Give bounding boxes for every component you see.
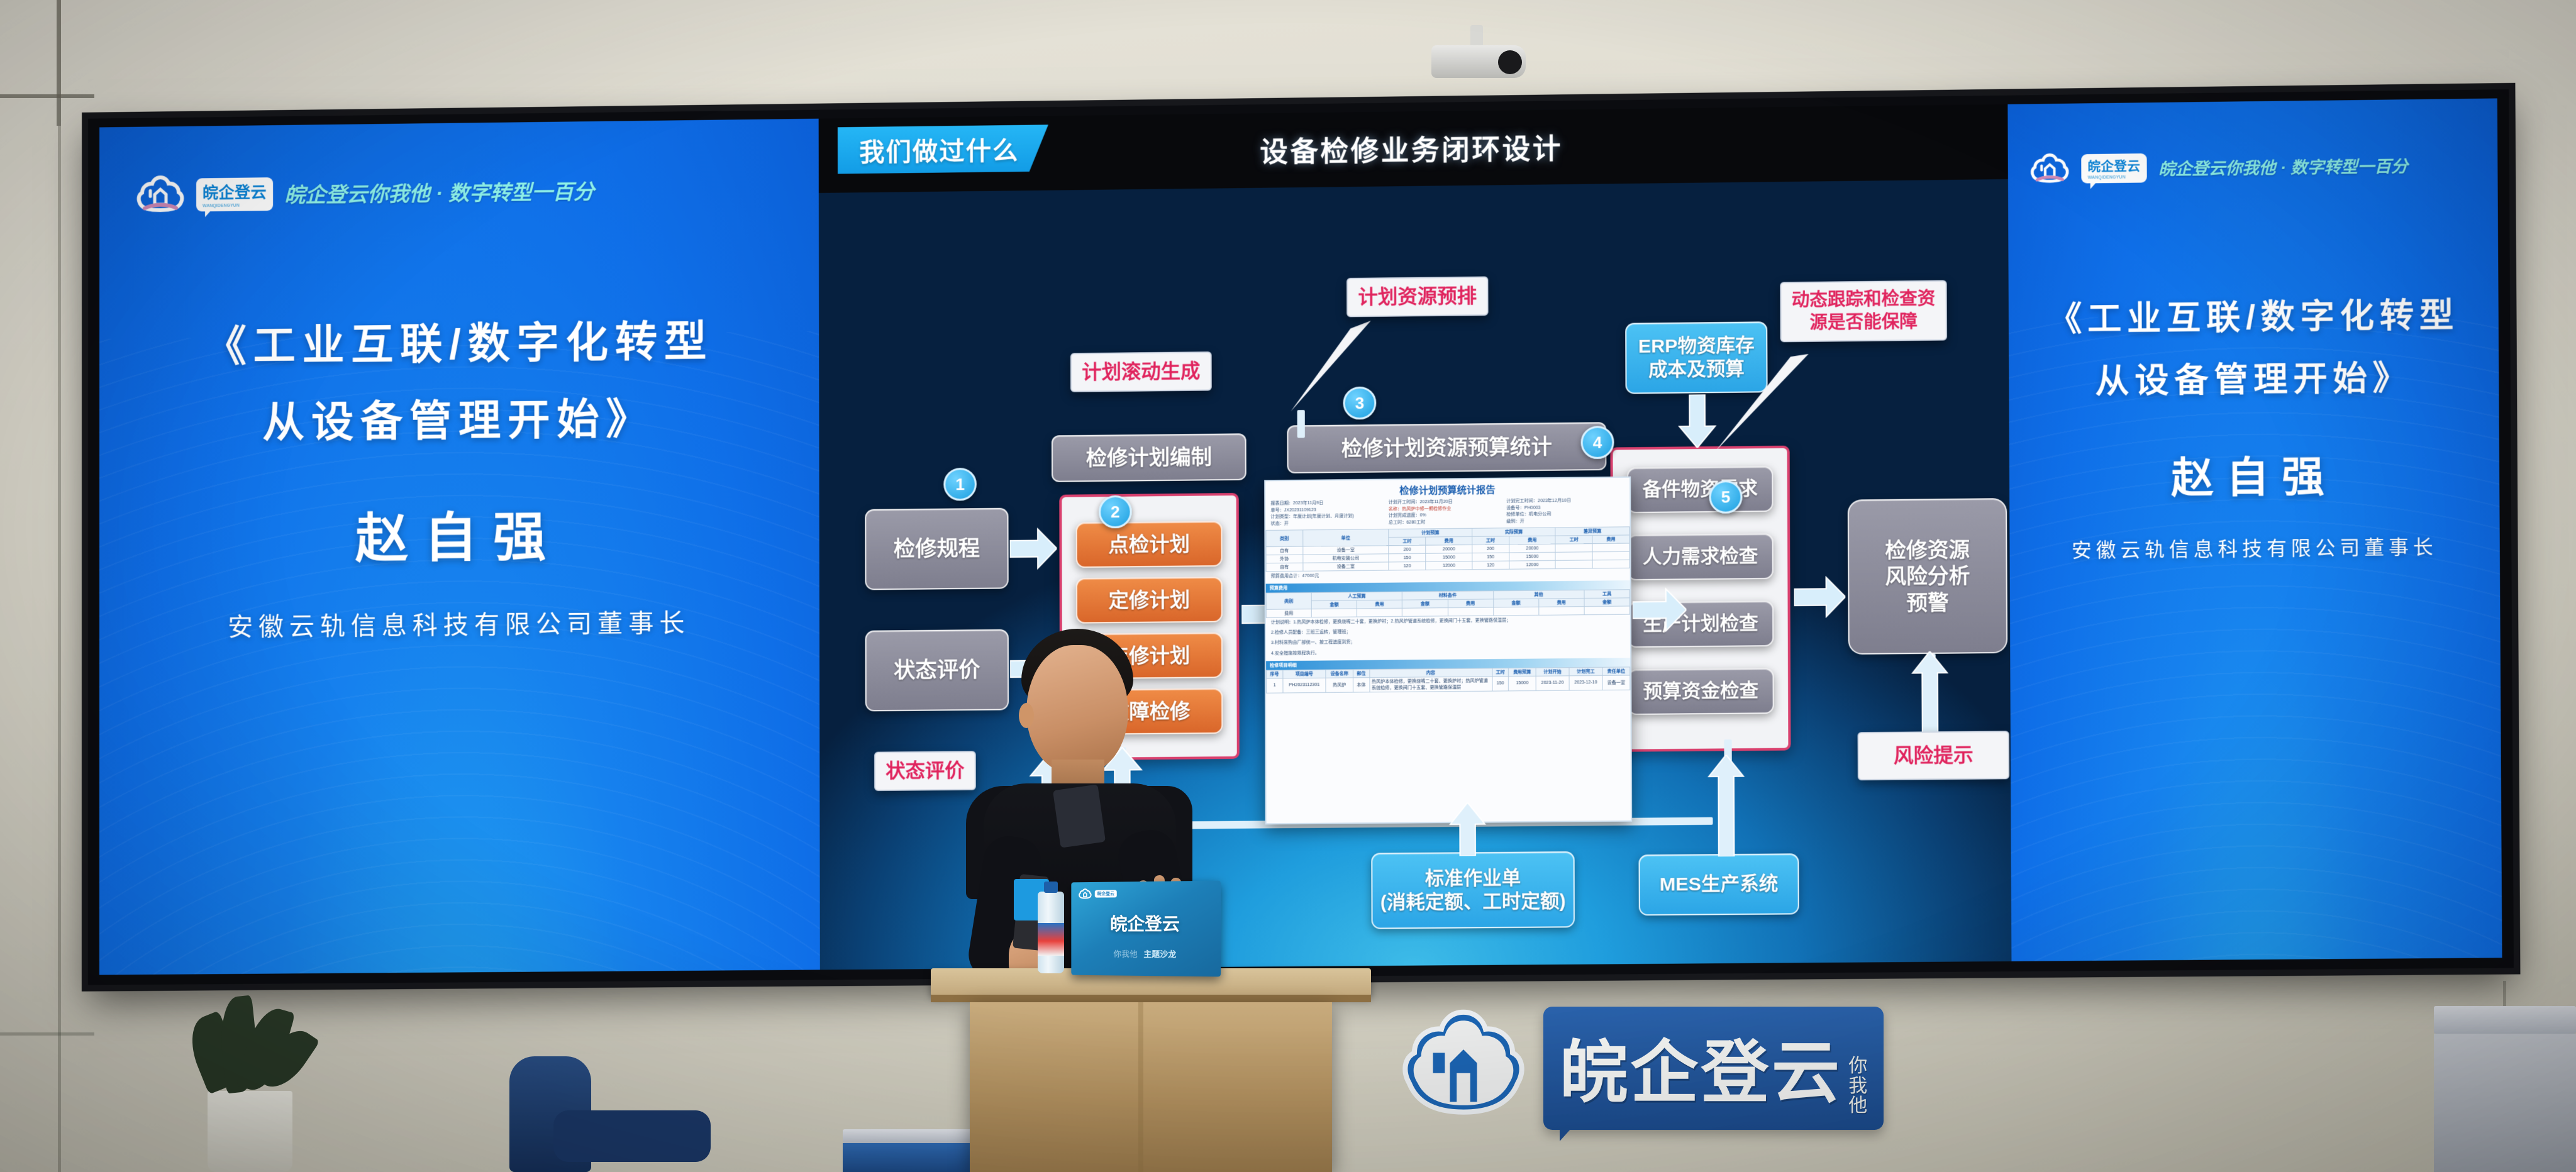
- step-badge-2: 2: [1099, 495, 1132, 529]
- report-meta-item: 总工时：6280工时: [1389, 519, 1507, 526]
- desk-front-panel: [2434, 1034, 2576, 1172]
- callout-risk-prompt: 风险提示: [1858, 731, 2010, 780]
- camera-mount: [1470, 25, 1483, 47]
- cell: 15000: [1509, 676, 1536, 691]
- wall-seam-horizontal: [0, 94, 94, 98]
- wall-sign-plate: 皖企登云 你 我 他: [1543, 1007, 1884, 1130]
- col-header-fee: 费用: [1448, 599, 1493, 608]
- node-risk-analysis-alert[interactable]: 检修资源 风险分析 预警: [1848, 498, 2007, 655]
- laptop-sub-small: 你我他: [1114, 949, 1138, 959]
- cloud-logo-icon: [2029, 153, 2070, 185]
- step-badge-1: 1: [943, 468, 977, 501]
- banner-panel-right: 皖企登云 WANQIDENGYUN 皖企登云你我他 · 数字转型一百分 《工业互…: [2007, 98, 2502, 961]
- cell: 设备一室: [1602, 675, 1630, 690]
- speaker-ear: [1019, 703, 1034, 728]
- cell: 费用: [1266, 609, 1311, 618]
- cell: 机电安装公司: [1303, 554, 1389, 563]
- cell: 1: [1267, 678, 1283, 693]
- wall-sign-side-char: 你: [1848, 1056, 1867, 1076]
- cloud-logo-icon: [1079, 888, 1092, 900]
- col-header-fee: 费用: [1357, 600, 1402, 609]
- col-header-unit: 单位: [1302, 529, 1389, 547]
- camera-lens-icon: [1498, 50, 1522, 74]
- col-header-cost: 费用: [1426, 536, 1472, 545]
- podium: [931, 943, 1384, 1172]
- speaker-role-right: 安徽云轨信息科技有限公司董事长: [2009, 531, 2499, 564]
- water-bottle: [1038, 892, 1064, 973]
- cloud-logo-icon: [136, 175, 185, 215]
- node-plan-compilation[interactable]: 检修计划编制: [1052, 433, 1246, 482]
- cell: [1584, 606, 1629, 615]
- chair-armrest: [553, 1110, 711, 1162]
- col-group-materials: 材料备件: [1402, 591, 1494, 600]
- report-meta-item: 级别：开: [1506, 517, 1624, 525]
- cell: [1357, 608, 1402, 617]
- step-badge-5: 5: [1709, 480, 1742, 514]
- cell: [1311, 609, 1357, 617]
- logo-badge-right: 皖企登云 WANQIDENGYUN: [2081, 153, 2147, 184]
- report-detail-table: 序号 项目编号 设备名称 部位 内容 工时 费用预算 计划开始 计划完工 责任单…: [1266, 666, 1630, 693]
- speaker-name-left: 赵自强: [99, 492, 819, 575]
- node-resource-budget-statistics[interactable]: 检修计划资源预算统计: [1287, 422, 1606, 473]
- node-risk-label: 检修资源 风险分析 预警: [1885, 536, 1970, 616]
- col-header-start: 计划开始: [1536, 667, 1569, 676]
- report-budget-table: 类别 单位 计划预算 实际预算 差异预算 工时 费用 工时 费用 工时: [1265, 526, 1629, 572]
- cell: 设备一室: [1303, 546, 1389, 555]
- cell: 15000: [1426, 553, 1472, 562]
- panel-title-line1-left: 《工业互联/数字化转型: [99, 307, 819, 380]
- panel-title-line1-right: 《工业互联/数字化转型: [2009, 289, 2499, 347]
- panel-title-line2-right: 从设备管理开始》: [2009, 352, 2499, 409]
- cell: 12000: [1509, 560, 1556, 569]
- col-group-variance: 差异预算: [1555, 527, 1629, 536]
- cell: 本体: [1353, 677, 1369, 692]
- speaker-role-left: 安徽云轨信息科技有限公司董事长: [99, 601, 819, 644]
- arrow-risk-feedback-up: [1911, 651, 1949, 739]
- logo-badge-text: 皖企登云: [203, 184, 267, 202]
- arrow-mes-up: [1707, 755, 1745, 856]
- col-header-category: 类别: [1266, 530, 1303, 547]
- report-meta-item: 状态：开: [1270, 519, 1388, 527]
- col-header-hours: 工时: [1389, 537, 1426, 546]
- bottle-label: [1038, 923, 1064, 956]
- led-video-wall: 皖企登云 WANQIDENGYUN 皖企登云你我他 · 数字转型一百分 《工业互…: [88, 89, 2514, 985]
- report-cost-table: 类别 人工预算 材料备件 其他 工具 金额 费用 金额 费用 金额: [1266, 589, 1630, 618]
- node-plan-scheduled-repair[interactable]: 定修计划: [1076, 577, 1223, 624]
- cell: 120: [1472, 561, 1509, 570]
- cell: 热风炉: [1326, 678, 1353, 693]
- panel-title-line2-left: 从设备管理开始》: [99, 385, 819, 458]
- arrow-std-up: [1449, 802, 1486, 856]
- wall-sign-side-char: 他: [1848, 1096, 1867, 1116]
- panel-header-right: 皖企登云 WANQIDENGYUN 皖企登云你我他 · 数字转型一百分: [2029, 149, 2407, 185]
- embedded-report-screenshot: 检修计划预算统计报告 报表日期：2023年11月9日 计划开工时间：2023年1…: [1264, 477, 1632, 825]
- laptop-logo-badge: 皖企登云: [1095, 890, 1117, 897]
- cell: [1556, 560, 1593, 569]
- callout-resource-prescheduling: 计划资源预排: [1346, 277, 1488, 318]
- cell: [1592, 543, 1629, 552]
- node-budget-fund-check[interactable]: 预算资金检查: [1628, 668, 1774, 715]
- col-header-cost: 费用: [1592, 535, 1629, 544]
- panel-header-left: 皖企登云 WANQIDENGYUN 皖企登云你我他 · 数字转型一百分: [136, 170, 594, 215]
- cell: 200: [1472, 545, 1509, 553]
- connector-report-stem: [1297, 410, 1305, 438]
- logo-badge-sub: WANQIDENGYUN: [2088, 175, 2141, 180]
- panel-body-left: 《工业互联/数字化转型 从设备管理开始》 赵自强 安徽云轨信息科技有限公司董事长: [99, 307, 819, 644]
- step-badge-3: 3: [1343, 387, 1376, 420]
- wall-seam-vertical: [57, 0, 61, 126]
- col-header-owner: 责任单位: [1602, 667, 1630, 676]
- arrow-procedure-to-plan: [1010, 528, 1057, 570]
- col-group-labor: 人工预算: [1311, 592, 1402, 600]
- cell: 20000: [1509, 544, 1555, 553]
- audience-desk-right: [2434, 1006, 2576, 1172]
- col-group-actual: 实际预算: [1472, 528, 1556, 536]
- col-header-finish: 计划完工: [1569, 667, 1602, 676]
- cell: [1402, 608, 1448, 617]
- led-screen-surface: 皖企登云 WANQIDENGYUN 皖企登云你我他 · 数字转型一百分 《工业互…: [99, 98, 2502, 975]
- col-header-project-no: 项目编号: [1283, 670, 1326, 678]
- cell: 外协: [1266, 555, 1303, 563]
- security-camera: [1428, 25, 1541, 101]
- node-plan-point-inspection[interactable]: 点检计划: [1076, 521, 1223, 568]
- col-header-part: 部位: [1353, 669, 1369, 677]
- bottle-cap: [1044, 882, 1058, 893]
- cell: [1592, 560, 1629, 568]
- wall-sign-side-char: 我: [1848, 1076, 1867, 1097]
- callout-rolling-plan: 计划滚动生成: [1070, 351, 1212, 392]
- cell: 15000: [1509, 552, 1555, 561]
- cell: 设备二室: [1303, 562, 1389, 571]
- step-badge-4: 4: [1581, 426, 1614, 459]
- conference-photo-scene: 皖企登云 WANQIDENGYUN 皖企登云你我他 · 数字转型一百分 《工业互…: [0, 0, 2576, 1172]
- col-header-amount: 金额: [1402, 600, 1448, 609]
- col-group-other: 其他: [1493, 590, 1584, 599]
- cell: 150: [1492, 676, 1509, 690]
- node-mes-system[interactable]: MES生产系统: [1638, 853, 1799, 915]
- wall-sign-side-text: 你 我 他: [1848, 1056, 1867, 1116]
- tagline-left: 皖企登云你我他 · 数字转型一百分: [284, 175, 594, 209]
- col-header-category: 类别: [1266, 593, 1311, 610]
- cell: 20000: [1426, 545, 1472, 553]
- desk-top: [2434, 1006, 2576, 1034]
- logo-badge-left: 皖企登云 WANQIDENGYUN: [196, 177, 273, 211]
- node-maintenance-procedure[interactable]: 检修规程: [865, 508, 1008, 590]
- cell: [1493, 607, 1538, 616]
- cell: 自有: [1266, 546, 1303, 555]
- col-group-planned: 计划预算: [1389, 528, 1472, 537]
- wall-sign-main-text: 皖企登云: [1560, 1018, 1842, 1116]
- col-header-hours: 工时: [1472, 536, 1509, 545]
- cell: 2023-12-10: [1569, 675, 1602, 690]
- podium-top-edge: [931, 995, 1371, 1002]
- laptop-screen[interactable]: 皖企登云 皖企登云 你我他 主题沙龙: [1071, 881, 1221, 977]
- node-standard-work-order[interactable]: 标准作业单 (消耗定额、工时定额): [1371, 851, 1575, 929]
- audience-chair-right: [553, 1104, 742, 1172]
- tagline-right: 皖企登云你我他 · 数字转型一百分: [2158, 153, 2408, 180]
- col-header-amount: 金额: [1493, 599, 1538, 607]
- callout-dynamic-tracking: 动态跟踪和检查资 源是否能保障: [1780, 280, 1947, 343]
- callout-leader-dynamic-tracking: [1714, 351, 1810, 454]
- cell: [1592, 551, 1629, 560]
- wall-panel-line-bottom: [0, 1032, 94, 1036]
- col-header-amount: 金额: [1584, 598, 1629, 607]
- podium-body: [970, 1002, 1332, 1172]
- arrow-resources-to-risk: [1794, 576, 1846, 618]
- cell: 150: [1472, 553, 1509, 561]
- wall-panel-line-left: [58, 126, 61, 1172]
- arrow-report-to-resources: [1633, 587, 1687, 632]
- podium-center-groove: [1138, 1002, 1143, 1172]
- laptop-logo: 皖企登云: [1079, 888, 1117, 899]
- col-header-hours: 工时: [1555, 536, 1592, 545]
- cloud-logo-icon: [1397, 1003, 1529, 1132]
- speaker-name-right: 赵自强: [2009, 441, 2500, 507]
- report-meta-grid: 报表日期：2023年11月9日 计划开工时间：2023年11月20日 计划完工时…: [1265, 497, 1629, 530]
- col-header-cost: 费用: [1509, 536, 1555, 545]
- banner-panel-left: 皖企登云 WANQIDENGYUN 皖企登云你我他 · 数字转型一百分 《工业互…: [99, 119, 820, 975]
- speaker-collar: [1053, 784, 1106, 848]
- node-std-label: 标准作业单 (消耗定额、工时定额): [1380, 866, 1566, 915]
- cell: 200: [1389, 545, 1426, 554]
- col-header-budget: 费用预算: [1509, 668, 1536, 677]
- cell: [1555, 552, 1592, 561]
- speaker-head: [1026, 645, 1128, 773]
- potted-plant-pot: [208, 1091, 292, 1172]
- col-header-equipment: 设备名称: [1326, 669, 1353, 677]
- cell: 12000: [1426, 561, 1472, 570]
- cell: [1448, 607, 1493, 616]
- col-header-seq: 序号: [1267, 670, 1283, 678]
- laptop-sub-text: 你我他 主题沙龙: [1071, 947, 1221, 959]
- callout-dynamic-tracking-text: 动态跟踪和检查资 源是否能保障: [1792, 289, 1936, 333]
- wall-brand-sign: 皖企登云 你 我 他: [1397, 1003, 1884, 1132]
- cell: [1555, 544, 1592, 553]
- table-row: 1 PH2023112301 热风炉 本体 热风炉本体检修，更换烧嘴二十套、更换…: [1267, 675, 1630, 693]
- node-spare-parts-demand[interactable]: 备件物资需求: [1627, 466, 1774, 513]
- logo-badge-sub: WANQIDENGYUN: [203, 203, 267, 208]
- laptop-main-text: 皖企登云: [1071, 910, 1221, 936]
- col-group-tools: 工具: [1584, 590, 1629, 599]
- cell: 热风炉本体检修，更换烧嘴二十套、更换炉衬；热风炉管道系统检修，更换阀门十五套、更…: [1369, 677, 1492, 692]
- logo-badge-text: 皖企登云: [2087, 160, 2140, 174]
- cell: 2023-11-20: [1536, 676, 1569, 691]
- panel-body-right: 《工业互联/数字化转型 从设备管理开始》 赵自强 安徽云轨信息科技有限公司董事长: [2009, 289, 2500, 563]
- col-header-hours: 工时: [1492, 668, 1508, 676]
- col-header-fee: 费用: [1539, 599, 1584, 607]
- cell: [1539, 607, 1584, 616]
- arrow-erp-down: [1678, 394, 1716, 448]
- cell: 120: [1389, 561, 1426, 570]
- node-manpower-check[interactable]: 人力需求检查: [1627, 533, 1774, 580]
- col-header-amount: 金额: [1311, 600, 1357, 609]
- laptop-sub-main: 主题沙龙: [1143, 949, 1176, 959]
- cell: 150: [1389, 553, 1426, 562]
- cell: PH2023112301: [1283, 678, 1326, 693]
- cell: 自有: [1266, 563, 1303, 572]
